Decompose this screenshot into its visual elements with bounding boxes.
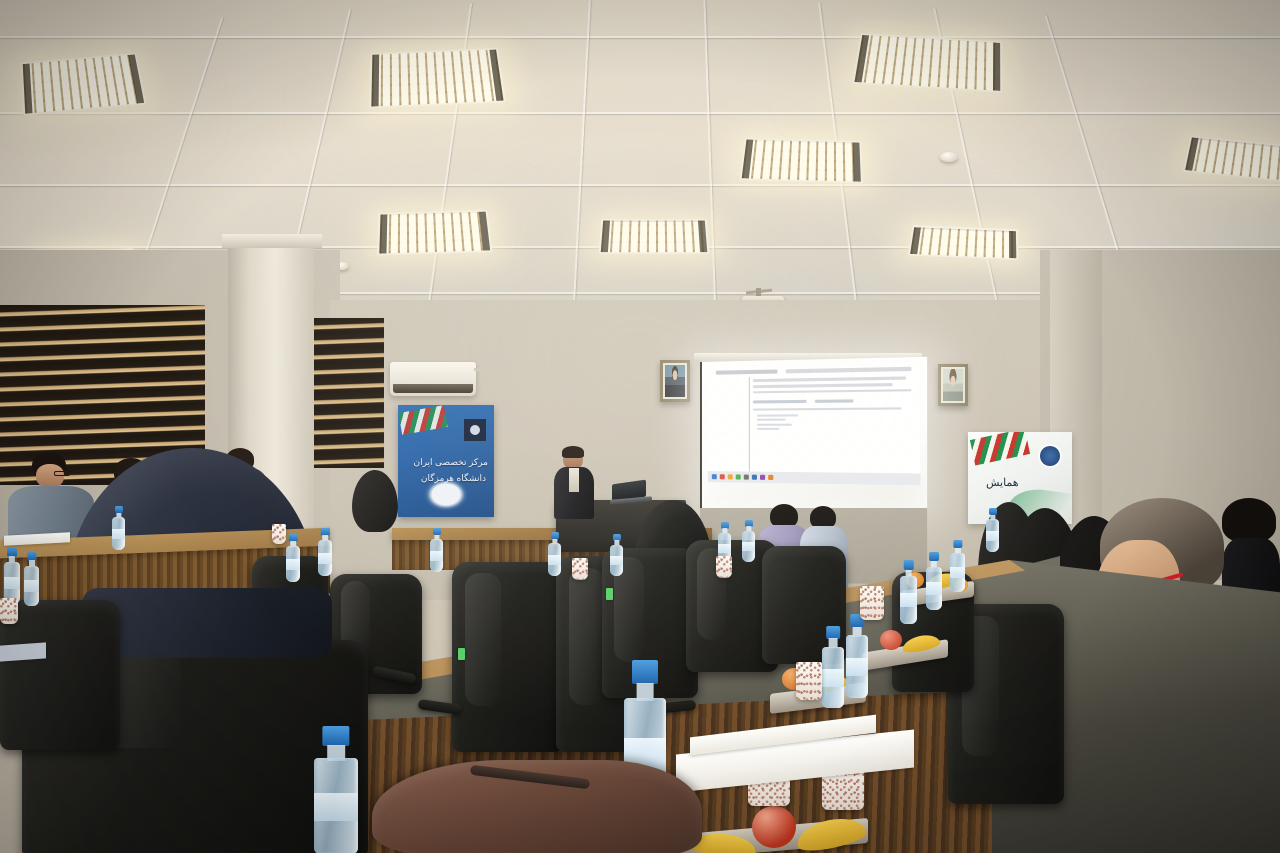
chair-inventory-tag [606, 588, 613, 600]
water-bottle [430, 528, 443, 572]
window-left-2 [312, 318, 384, 468]
water-bottle [4, 548, 20, 604]
recessed-louvre-light [369, 48, 506, 108]
paper-cup [796, 662, 822, 700]
paper-cup [716, 556, 732, 578]
water-bottle [286, 534, 300, 582]
paper-cup [572, 558, 588, 580]
water-bottle [318, 528, 332, 576]
hijab [352, 470, 398, 532]
recessed-louvre-light [852, 33, 1002, 92]
apple [752, 806, 796, 848]
support-column-cap [222, 234, 322, 248]
water-bottle [314, 726, 358, 853]
paper-cup [0, 598, 18, 624]
flag-ribbon-icon [398, 405, 447, 435]
banner-right-line1: همایش [986, 476, 1019, 489]
water-bottle [742, 520, 755, 562]
recessed-louvre-light [599, 219, 710, 254]
water-bottle [610, 534, 623, 576]
presenter-hair [562, 446, 584, 458]
water-bottle [822, 626, 844, 708]
projection-screen-surface [700, 357, 927, 513]
water-bottle [548, 532, 561, 576]
recessed-louvre-light [377, 210, 492, 255]
water-bottle [986, 508, 999, 552]
face [36, 464, 64, 488]
projected-taskbar [708, 472, 920, 485]
water-bottle [846, 614, 868, 698]
banner-emblem-icon [424, 481, 468, 511]
executive-chair [452, 562, 564, 752]
apple [880, 630, 902, 650]
recessed-louvre-light [908, 225, 1019, 260]
water-bottle [900, 560, 917, 624]
smoke-detector [940, 152, 958, 162]
banner-logo-icon [464, 419, 486, 441]
recessed-louvre-light [1183, 136, 1280, 182]
framed-portrait-left [660, 360, 690, 402]
conference-room-photo: مرکز تخصصی ایران دانشگاه هرمزگان همایش [0, 0, 1280, 853]
projection-screen [700, 362, 916, 508]
recessed-louvre-light [739, 138, 863, 183]
water-bottle [926, 552, 942, 610]
flag-ribbon-icon [970, 432, 1030, 466]
attendee-woman-left-back [352, 470, 398, 532]
water-bottle [24, 552, 39, 606]
presenter-shirt [569, 468, 579, 492]
executive-chair [0, 600, 120, 750]
recessed-louvre-light [21, 53, 147, 116]
document-paper [0, 642, 46, 661]
projected-application-window [708, 363, 920, 485]
split-air-conditioner [390, 362, 476, 396]
banner-logo-icon [1040, 446, 1060, 466]
paper-cup [860, 586, 884, 620]
framed-portrait-right [938, 364, 968, 406]
chair-inventory-tag [458, 648, 465, 660]
water-bottle [112, 506, 125, 550]
paper-cup [272, 524, 286, 544]
banner-blue-left: مرکز تخصصی ایران دانشگاه هرمزگان [398, 405, 494, 517]
presenter [552, 448, 598, 518]
water-bottle [950, 540, 965, 592]
banner-left-line1: مرکز تخصصی ایران [413, 457, 488, 468]
